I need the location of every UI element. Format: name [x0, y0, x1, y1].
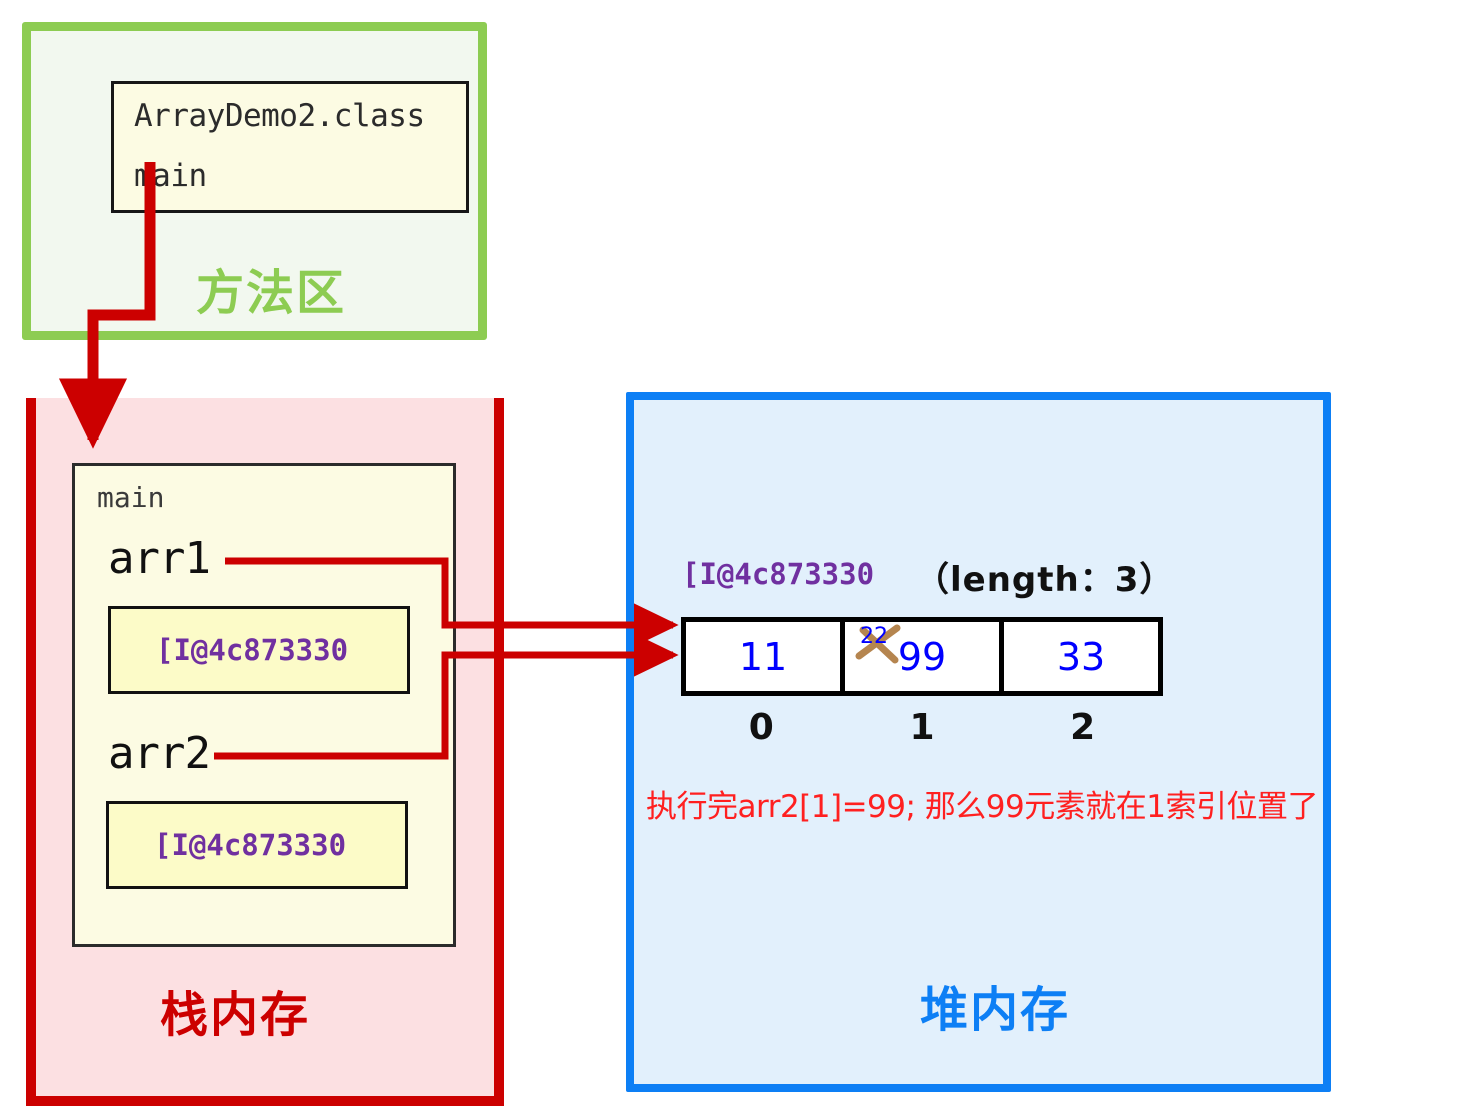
variable-value-box-arr2: [I@4c873330 [106, 801, 408, 889]
strikethrough-old-value-marker: 22 [853, 622, 911, 666]
heap-array-length-label: （length：3） [915, 552, 1174, 601]
array-cell-value-0: 11 [739, 638, 787, 676]
array-cell-value-2: 33 [1057, 638, 1105, 676]
heap-memory-title: 堆内存 [920, 970, 1070, 1040]
array-index-2: 2 [1002, 707, 1163, 751]
array-index-row: 0 1 2 [681, 707, 1163, 751]
method-area-region: ArrayDemo2.class main 方法区 [22, 22, 487, 340]
array-cell-0: 11 [686, 622, 845, 691]
variable-name-arr2: arr2 [108, 728, 210, 779]
variable-value-box-arr1: [I@4c873330 [108, 606, 410, 694]
array-index-1: 1 [842, 707, 1003, 751]
stack-frame-title: main [97, 481, 164, 514]
variable-value-arr2: [I@4c873330 [154, 828, 346, 862]
variable-value-arr1: [I@4c873330 [156, 633, 348, 667]
stack-memory-title: 栈内存 [160, 975, 310, 1045]
array-cell-old-value-1: 22 [860, 626, 888, 648]
method-area-title: 方法区 [196, 253, 346, 323]
class-file-box: ArrayDemo2.class main [111, 81, 469, 213]
array-cells-row: 11 22 99 33 [681, 617, 1163, 696]
class-method-label: main [134, 158, 207, 194]
class-name-label: ArrayDemo2.class [134, 98, 425, 134]
array-index-0: 0 [681, 707, 842, 751]
stack-frame-main: main arr1 [I@4c873330 arr2 [I@4c873330 [72, 463, 456, 947]
variable-name-arr1: arr1 [108, 533, 210, 584]
heap-object-address: [I@4c873330 [682, 557, 874, 591]
heap-annotation-note: 执行完arr2[1]=99; 那么99元素就在1索引位置了 [646, 781, 1318, 826]
diagram-canvas: ArrayDemo2.class main 方法区 main arr1 [I@4… [0, 0, 1460, 1119]
array-cell-2: 33 [1004, 622, 1158, 691]
array-cell-1: 22 99 [845, 622, 1004, 691]
